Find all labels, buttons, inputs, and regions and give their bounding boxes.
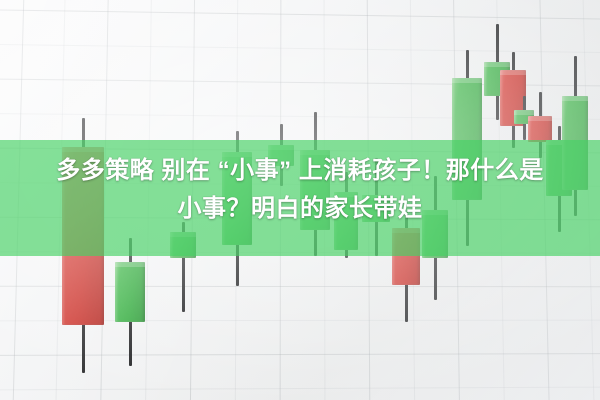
headline-line-2: 小事？明白的家长带娃 [0, 190, 600, 228]
promo-banner-image: 多多策略 别在 “小事” 上消耗孩子！那什么是 小事？明白的家长带娃 [0, 0, 600, 400]
candlestick-body-up [115, 262, 145, 322]
candlestick-body-highlight [562, 96, 588, 101]
headline-line-1: 多多策略 别在 “小事” 上消耗孩子！那什么是 [0, 152, 600, 190]
candlestick-body-highlight [115, 262, 145, 267]
candlestick-body-highlight [452, 78, 482, 83]
headline-text: 多多策略 别在 “小事” 上消耗孩子！那什么是 小事？明白的家长带娃 [0, 152, 600, 228]
